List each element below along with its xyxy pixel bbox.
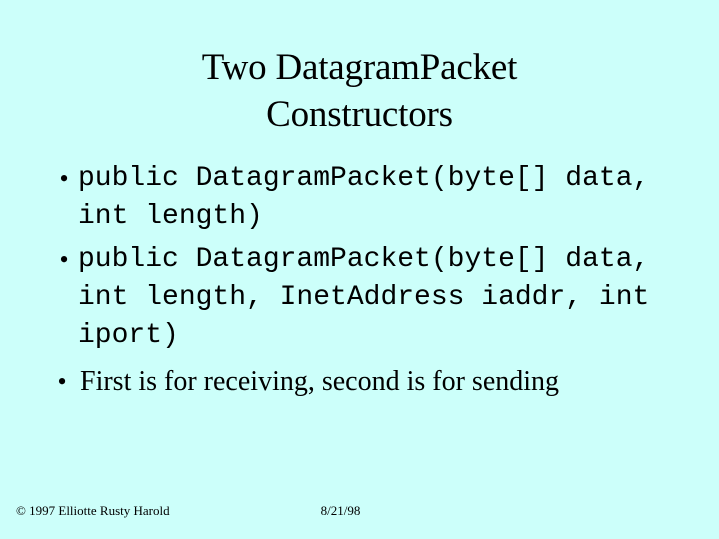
page-title: Two DatagramPacket Constructors xyxy=(36,44,683,138)
list-item: • public DatagramPacket(byte[] data, int… xyxy=(48,241,678,355)
page-title-line-2: Constructors xyxy=(36,91,683,138)
bullet-text: First is for receiving, second is for se… xyxy=(80,363,678,401)
slide-canvas: Two DatagramPacket Constructors • public… xyxy=(0,0,719,539)
list-item: • First is for receiving, second is for … xyxy=(48,363,678,401)
list-item: • public DatagramPacket(byte[] data, int… xyxy=(48,160,678,236)
bullet-text: public DatagramPacket(byte[] data, int l… xyxy=(78,241,678,355)
footer-date: 8/21/98 xyxy=(0,503,719,519)
bullet-marker-icon: • xyxy=(56,363,68,401)
bullet-marker-icon: • xyxy=(58,241,70,279)
bullet-marker-icon: • xyxy=(58,160,70,198)
bullet-list: • public DatagramPacket(byte[] data, int… xyxy=(48,160,678,406)
slide-footer: © 1997 Elliotte Rusty Harold 8/21/98 xyxy=(0,495,719,539)
bullet-text: public DatagramPacket(byte[] data, int l… xyxy=(78,160,678,236)
page-title-line-1: Two DatagramPacket xyxy=(36,44,683,91)
